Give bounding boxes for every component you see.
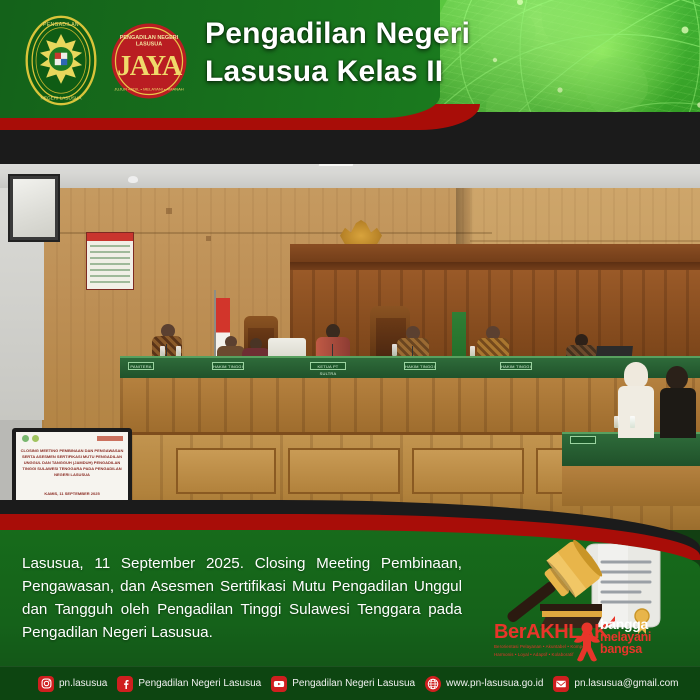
social-item-facebook[interactable]: Pengadilan Negeri Lasusua: [117, 676, 261, 692]
nameplate: HAKIM TINGGI: [500, 362, 532, 370]
poster-root: PENGADILAN NEGERI LASUSUA PENGADILAN NEG…: [0, 0, 700, 700]
svg-text:PENGADILAN NEGERI: PENGADILAN NEGERI: [120, 35, 179, 41]
social-label-facebook: Pengadilan Negeri Lasusua: [138, 678, 261, 689]
gmail-icon[interactable]: [553, 676, 569, 692]
slide-date: KAMIS, 11 SEPTEMBER 2025: [16, 491, 128, 496]
social-label-website: www.pn-lasusua.go.id: [446, 678, 543, 689]
person-seated: [660, 366, 696, 436]
social-bar: pn.lasusua Pengadilan Negeri Lasusua Pen…: [0, 666, 700, 700]
youtube-icon[interactable]: [271, 676, 287, 692]
globe-icon[interactable]: [425, 676, 441, 692]
title-line-1: Pengadilan Negeri: [205, 15, 535, 53]
svg-text:NEGERI LASUSUA: NEGERI LASUSUA: [41, 96, 83, 101]
caption-text: Lasusua, 11 September 2025. Closing Meet…: [22, 552, 462, 644]
social-label-instagram: pn.lasusua: [59, 678, 107, 689]
svg-text:JAYA: JAYA: [117, 51, 183, 82]
jaya-logo-icon: PENGADILAN NEGERI LASUSUA JAYA JUJUR • A…: [110, 22, 188, 100]
social-item-email[interactable]: pn.lasusua@gmail.com: [553, 676, 678, 692]
social-label-youtube: Pengadilan Negeri Lasusua: [292, 678, 415, 689]
nameplate: HAKIM TINGGI: [404, 362, 436, 370]
bangga-line-3: bangsa: [600, 643, 700, 655]
dome-camera-icon: [128, 176, 138, 183]
instagram-icon[interactable]: [38, 676, 54, 692]
social-label-email: pn.lasusua@gmail.com: [574, 678, 678, 689]
social-item-youtube[interactable]: Pengadilan Negeri Lasusua: [271, 676, 415, 692]
nameplate: PANITERA: [128, 362, 154, 370]
slide-text: CLOSING MEETING PEMBINAAN DAN PENGAWASAN…: [20, 448, 124, 478]
svg-text:JUJUR • ADIL • MELAYANI • AMAN: JUJUR • ADIL • MELAYANI • AMANAH: [114, 87, 183, 92]
svg-text:PENGADILAN: PENGADILAN: [43, 22, 79, 28]
header-content: PENGADILAN NEGERI LASUSUA PENGADILAN NEG…: [0, 0, 700, 128]
slide-logo-dots: [22, 435, 39, 442]
title-line-2: Lasusua Kelas II: [205, 53, 535, 91]
social-item-website[interactable]: www.pn-lasusua.go.id: [425, 676, 543, 692]
facebook-icon[interactable]: [117, 676, 133, 692]
bangga-melayani-bangsa-logo: bangga melayani bangsa: [600, 618, 700, 655]
svg-text:LASUSUA: LASUSUA: [136, 41, 162, 47]
wall-poster: [86, 232, 134, 290]
wall-monitor: [8, 174, 60, 242]
court-seal-logo-icon: PENGADILAN NEGERI LASUSUA: [22, 13, 100, 108]
social-item-instagram[interactable]: pn.lasusua: [38, 676, 107, 692]
page-title: Pengadilan Negeri Lasusua Kelas II: [205, 15, 535, 91]
bangga-person-icon: [572, 622, 602, 662]
person-seated: [618, 362, 654, 434]
event-photo: PEMBINAAN, PENGAWASAN, DAN ASESMEN SERTI…: [0, 140, 700, 530]
nameplate: KETUA PT SULTRA: [310, 362, 346, 370]
nameplate: HAKIM TINGGI: [212, 362, 244, 370]
